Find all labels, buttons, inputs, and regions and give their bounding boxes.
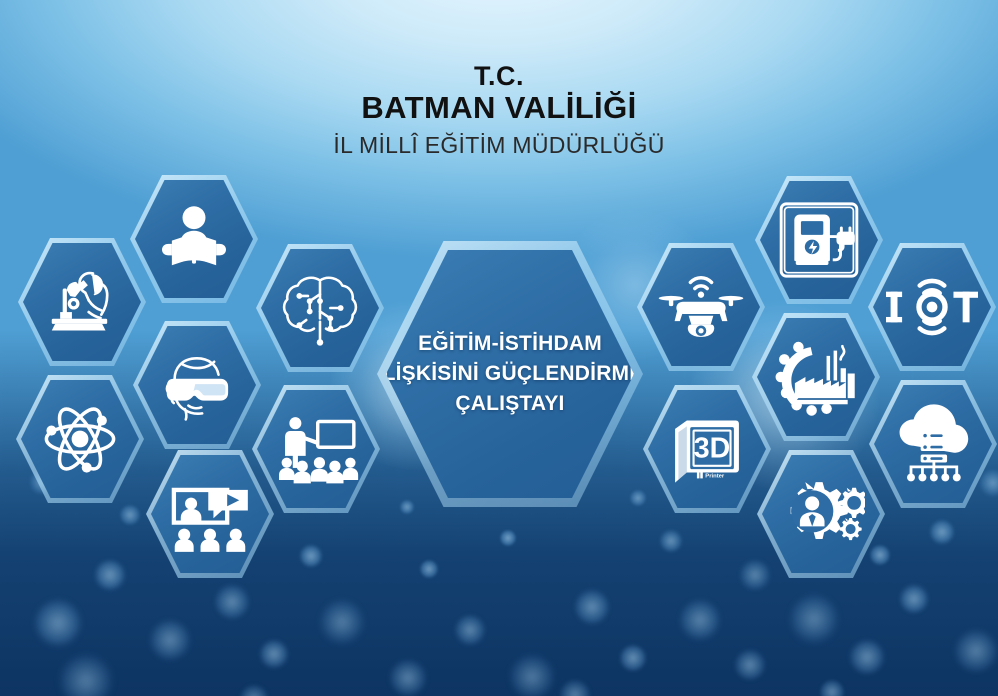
workshop-title-line3: ÇALIŞTAYI [377,389,644,419]
hexagon-body [642,248,760,366]
header-line-tc: T.C. [0,62,998,90]
factory-gear-icon [757,318,875,436]
iot-icon [873,248,991,366]
hexagon-body [762,455,880,573]
header-line-province: BATMAN VALİLİĞİ [0,90,998,127]
hexagon-body [257,390,375,508]
book-reader-icon [135,180,253,298]
teacher-classroom-icon [257,390,375,508]
poster-canvas: T.C. BATMAN VALİLİĞİ İL MİLLÎ EĞİTİM MÜD… [0,0,998,696]
atom-icon [21,380,139,498]
svg-text:Printer: Printer [705,474,725,480]
svg-text:3D: 3D [694,432,731,464]
webinar-video-icon [151,455,269,573]
workshop-title: EĞİTİM-İSTİHDAM İLİŞKİSİNİ GÜÇLENDİRME Ç… [369,329,652,418]
center-hexagon-body: EĞİTİM-İSTİHDAM İLİŞKİSİNİ GÜÇLENDİRME Ç… [386,250,634,498]
hexagon-body [21,380,139,498]
header-line-directorate: İL MİLLÎ EĞİTİM MÜDÜRLÜĞÜ [0,132,998,159]
workshop-title-line1: EĞİTİM-İSTİHDAM [377,329,644,359]
hexagon-body [261,249,379,367]
vr-headset-icon [138,326,256,444]
printer-3d-icon: 3D Printer [648,390,766,508]
hexagon-body [23,243,141,361]
poster-header: T.C. BATMAN VALİLİĞİ İL MİLLÎ EĞİTİM MÜD… [0,62,998,159]
hexagon-body [873,248,991,366]
gear-person-icon [762,455,880,573]
hexagon-body [760,181,878,299]
hexagon-body [757,318,875,436]
ai-brain-circuit-icon [261,249,379,367]
hexagon-body [874,385,992,503]
cloud-server-icon [874,385,992,503]
microscope-scientist-icon [23,243,141,361]
hexagon-body [138,326,256,444]
drone-wifi-icon [642,248,760,366]
ev-charger-icon [760,181,878,299]
workshop-title-line2: İLİŞKİSİNİ GÜÇLENDİRME [377,359,644,389]
hexagon-body [135,180,253,298]
hexagon-body: 3D Printer [648,390,766,508]
hexagon-body [151,455,269,573]
